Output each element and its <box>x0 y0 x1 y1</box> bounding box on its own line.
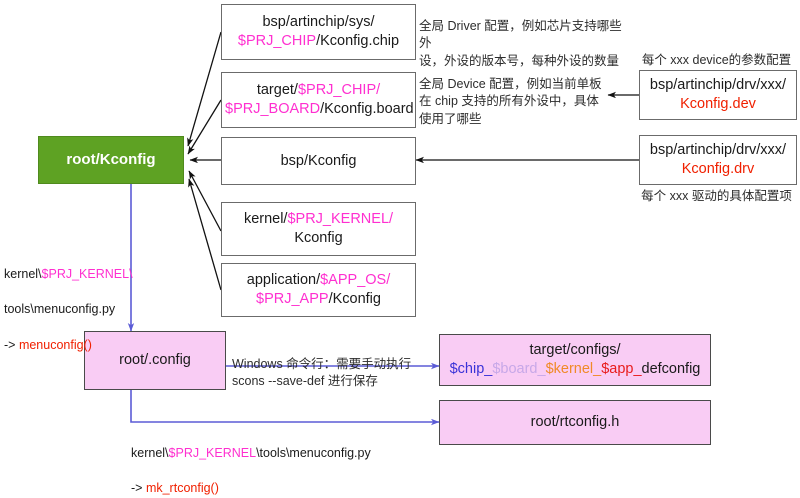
node-kconfig-board[interactable]: target/$PRJ_CHIP/ $PRJ_BOARD/Kconfig.boa… <box>221 72 416 128</box>
node-kconfig-bsp[interactable]: bsp/Kconfig <box>221 137 416 185</box>
arrow-kernel-to-root <box>189 171 221 231</box>
node-root-kconfig-label: root/Kconfig <box>39 150 183 170</box>
note-save-def: Windows 命令行：需要手动执行 scons --save-def 进行保存 <box>232 356 437 391</box>
arrow-board-to-root <box>188 100 221 154</box>
node-root-kconfig[interactable]: root/Kconfig <box>38 136 184 184</box>
arrow-config-to-rtconfig <box>131 390 439 422</box>
note-mk-rtconfig: kernel\$PRJ_KERNEL\tools\menuconfig.py -… <box>131 427 451 498</box>
note-dev-param: 每个 xxx device的参数配置 <box>633 52 800 69</box>
node-rtconfig-h-label: root/rtconfig.h <box>440 413 710 432</box>
node-kconfig-dev[interactable]: bsp/artinchip/drv/xxx/ Kconfig.dev <box>639 70 797 120</box>
note-driver-config: 全局 Driver 配置，例如芯片支持哪些外 设，外设的版本号，每种外设的数量 <box>419 18 634 70</box>
node-kconfig-kernel-label: kernel/$PRJ_KERNEL/ Kconfig <box>222 210 415 248</box>
node-kconfig-drv[interactable]: bsp/artinchip/drv/xxx/ Kconfig.drv <box>639 135 797 185</box>
node-kconfig-bsp-label: bsp/Kconfig <box>222 152 415 171</box>
node-kconfig-chip-label: bsp/artinchip/sys/ $PRJ_CHIP/Kconfig.chi… <box>222 13 415 51</box>
node-defconfig[interactable]: target/configs/ $chip_$board_$kernel_$ap… <box>439 334 711 386</box>
node-kconfig-board-label: target/$PRJ_CHIP/ $PRJ_BOARD/Kconfig.boa… <box>222 81 415 119</box>
note-drv-param: 每个 xxx 驱动的具体配置项 <box>633 188 800 205</box>
note-device-config: 全局 Device 配置，例如当前单板 在 chip 支持的所有外设中，具体 使… <box>419 76 604 128</box>
node-kconfig-app[interactable]: application/$APP_OS/ $PRJ_APP/Kconfig <box>221 263 416 317</box>
arrow-chip-to-root <box>188 32 221 146</box>
node-kconfig-drv-label: bsp/artinchip/drv/xxx/ Kconfig.drv <box>640 141 796 179</box>
node-kconfig-chip[interactable]: bsp/artinchip/sys/ $PRJ_CHIP/Kconfig.chi… <box>221 4 416 60</box>
arrow-app-to-root <box>189 179 221 290</box>
node-defconfig-label: target/configs/ $chip_$board_$kernel_$ap… <box>440 341 710 379</box>
node-rtconfig-h[interactable]: root/rtconfig.h <box>439 400 711 445</box>
node-kconfig-dev-label: bsp/artinchip/drv/xxx/ Kconfig.dev <box>640 76 796 114</box>
diagram-canvas: root/Kconfig bsp/artinchip/sys/ $PRJ_CHI… <box>0 0 800 462</box>
node-kconfig-kernel[interactable]: kernel/$PRJ_KERNEL/ Kconfig <box>221 202 416 256</box>
note-menuconfig: kernel\$PRJ_KERNEL\ tools\menuconfig.py … <box>4 248 154 355</box>
node-kconfig-app-label: application/$APP_OS/ $PRJ_APP/Kconfig <box>222 271 415 309</box>
